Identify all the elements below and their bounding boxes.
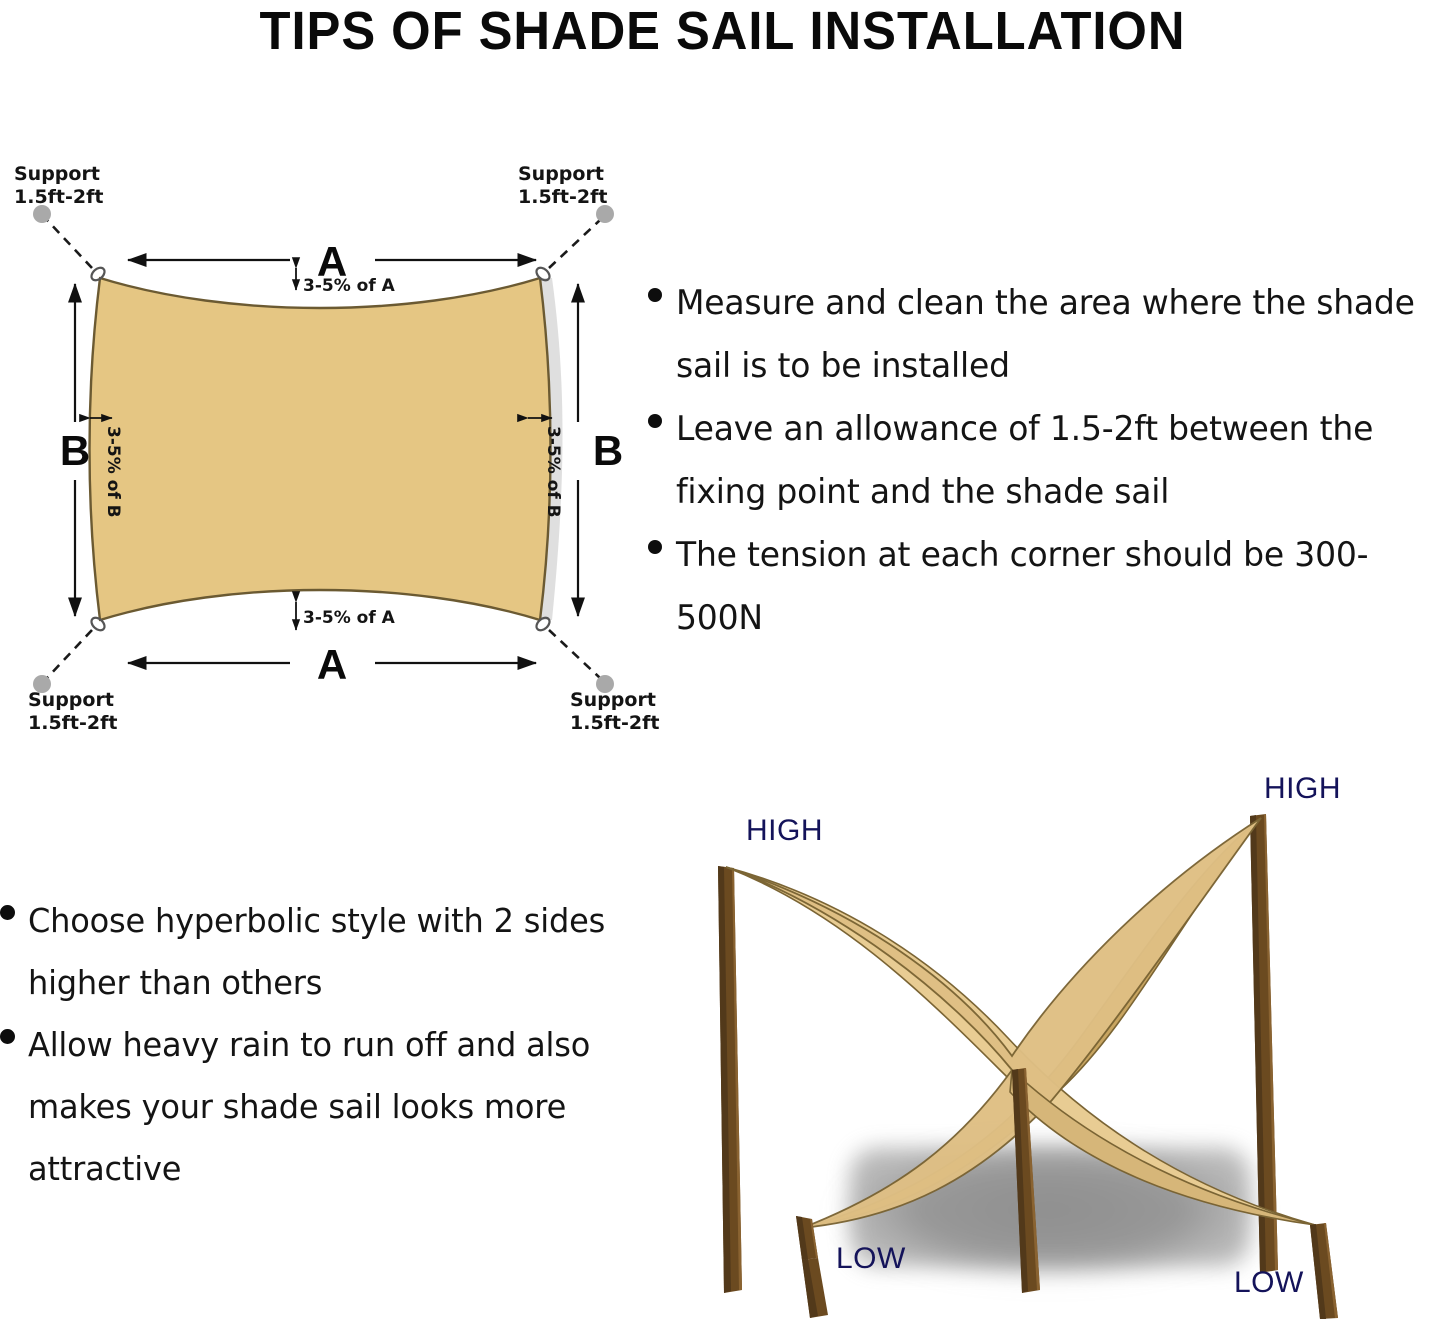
list-item-text: Leave an allowance of 1.5-2ft between th… (676, 398, 1425, 524)
dimension-label-b-right: B (593, 427, 623, 474)
support-label-top-left: Support 1.5ft-2ft (14, 163, 103, 208)
list-item: Allow heavy rain to run off and also mak… (0, 1014, 630, 1200)
curvature-label-right: 3-5% of B (543, 426, 563, 518)
installation-tips-list-top: Measure and clean the area where the sha… (648, 272, 1445, 650)
list-item: Choose hyperbolic style with 2 sides hig… (0, 890, 630, 1014)
support-label-line1: Support (518, 163, 604, 185)
label-low-left: LOW (836, 1242, 906, 1275)
rect-sail-diagram: Support 1.5ft-2ft Support 1.5ft-2ft Supp… (0, 150, 660, 750)
dimension-label-a-bottom: A (317, 641, 347, 688)
support-label-top-right: Support 1.5ft-2ft (518, 163, 607, 208)
installation-tips-list-bottom: Choose hyperbolic style with 2 sides hig… (0, 890, 630, 1200)
list-item: The tension at each corner should be 300… (648, 524, 1445, 650)
support-label-line2: 1.5ft-2ft (28, 712, 117, 734)
list-item: Leave an allowance of 1.5-2ft between th… (648, 398, 1445, 524)
bullet-dot-icon (0, 905, 15, 920)
post-low-left (796, 1216, 828, 1318)
support-label-bottom-right: Support 1.5ft-2ft (570, 689, 659, 734)
curvature-label-top: 3-5% of A (303, 276, 396, 296)
shade-sail-shape (90, 278, 551, 620)
label-high-left: HIGH (746, 814, 823, 847)
list-item-text: Allow heavy rain to run off and also mak… (28, 1014, 612, 1200)
support-label-line1: Support (570, 689, 656, 711)
support-label-line2: 1.5ft-2ft (14, 186, 103, 208)
dimension-label-b-left: B (60, 427, 90, 474)
hyperbolic-sail-diagram: HIGH LOW HIGH LOW (660, 770, 1445, 1319)
post-low-right (1310, 1223, 1338, 1319)
list-item-text: Measure and clean the area where the sha… (676, 272, 1425, 398)
page-title: TIPS OF SHADE SAIL INSTALLATION (43, 0, 1401, 62)
support-label-bottom-left: Support 1.5ft-2ft (28, 689, 117, 734)
support-label-line1: Support (14, 163, 100, 185)
curvature-label-left: 3-5% of B (103, 426, 123, 518)
list-item: Measure and clean the area where the sha… (648, 272, 1445, 398)
bullet-dot-icon (648, 414, 662, 428)
label-high-right: HIGH (1264, 772, 1341, 805)
support-label-line2: 1.5ft-2ft (570, 712, 659, 734)
label-low-right: LOW (1234, 1266, 1304, 1299)
bullet-dot-icon (648, 540, 662, 554)
list-item-text: The tension at each corner should be 300… (676, 524, 1425, 650)
post-high-left (718, 866, 742, 1293)
bullet-dot-icon (648, 288, 662, 302)
support-label-line2: 1.5ft-2ft (518, 186, 607, 208)
list-item-text: Choose hyperbolic style with 2 sides hig… (28, 890, 612, 1014)
support-label-line1: Support (28, 689, 114, 711)
bullet-dot-icon (0, 1029, 15, 1044)
curvature-label-bottom: 3-5% of A (303, 608, 396, 628)
